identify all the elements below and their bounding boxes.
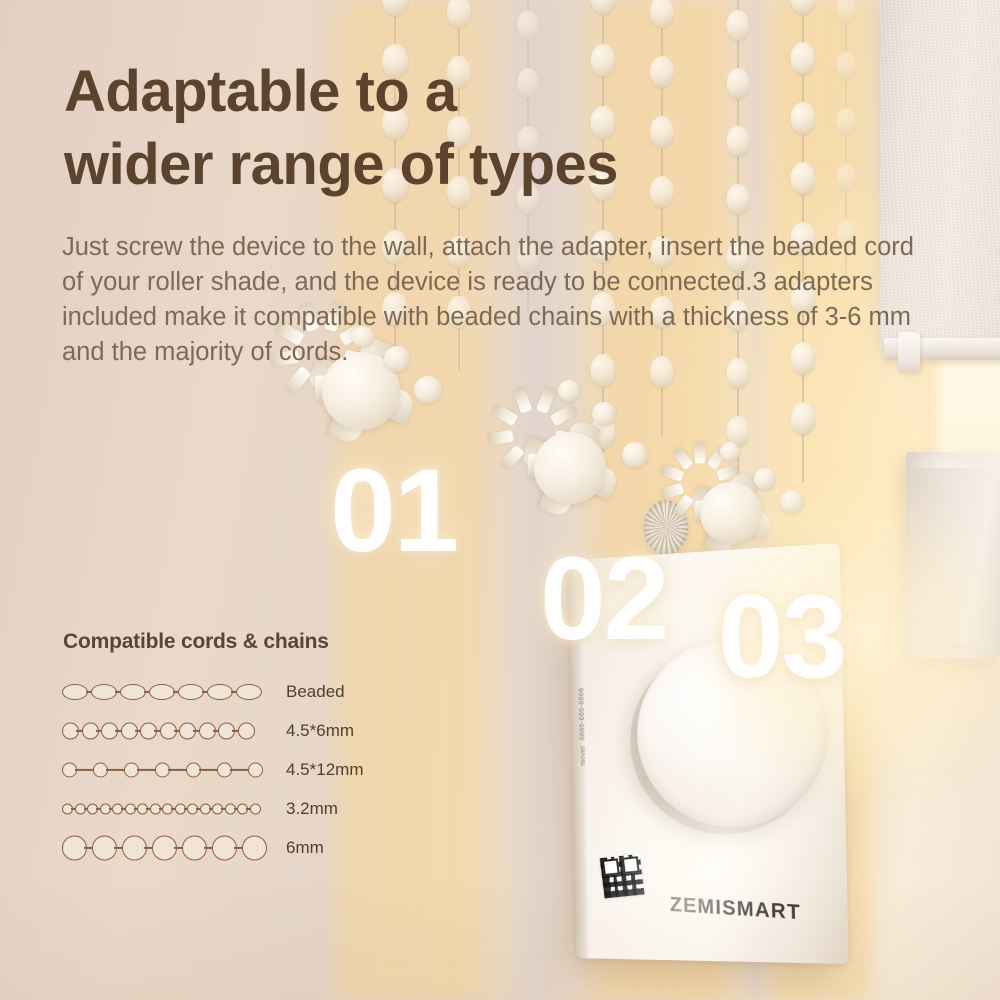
adapter-bead bbox=[720, 442, 740, 462]
qr-code-icon bbox=[600, 854, 645, 898]
chain-glyph-small-circles bbox=[62, 796, 274, 822]
compatibility-list: Beaded4.5*6mm4.5*12mm3.2mm6mm bbox=[62, 672, 402, 867]
step-number-02: 02 bbox=[540, 540, 667, 658]
chain-connector bbox=[137, 768, 157, 770]
chain-connector bbox=[106, 768, 126, 770]
headline-line-1: Adaptable to a bbox=[64, 55, 744, 128]
chain-link bbox=[236, 684, 262, 700]
chain-link bbox=[242, 835, 267, 860]
chain-glyph-touching-circles bbox=[62, 718, 274, 744]
chain-glyph-spaced-circles-long bbox=[62, 757, 274, 783]
headline: Adaptable to a wider range of types bbox=[64, 55, 744, 201]
chain-bead bbox=[382, 0, 408, 16]
compatibility-row: Beaded bbox=[62, 672, 402, 711]
chain-link bbox=[91, 684, 117, 700]
chain-glyph-oval-links bbox=[62, 679, 274, 705]
serial-code: 6666-666-6666 bbox=[578, 687, 586, 740]
adapter-sprocket-hub bbox=[534, 432, 606, 504]
serial-mark: mover bbox=[580, 745, 587, 766]
adapter-bead bbox=[592, 402, 616, 426]
compatibility-row: 6mm bbox=[62, 828, 402, 867]
chain-link bbox=[62, 684, 88, 700]
chain-bead bbox=[836, 164, 856, 191]
chain-link bbox=[149, 684, 175, 700]
chain-bead bbox=[836, 0, 856, 23]
chain-bead bbox=[650, 0, 674, 28]
compatibility-row: 3.2mm bbox=[62, 789, 402, 828]
chain-connector bbox=[199, 768, 219, 770]
chain-link bbox=[248, 762, 263, 777]
chain-connector bbox=[168, 768, 188, 770]
headline-line-2: wider range of types bbox=[64, 128, 744, 201]
compatibility-label: 4.5*12mm bbox=[286, 760, 363, 780]
chain-connector bbox=[230, 768, 250, 770]
chain-bead bbox=[447, 0, 471, 28]
chain-link bbox=[250, 803, 261, 814]
body-copy: Just screw the device to the wall, attac… bbox=[62, 230, 924, 370]
sprocket-tooth bbox=[695, 442, 706, 463]
chain-bead bbox=[836, 52, 856, 79]
product-banner: mover6666-666-6666 ZEMISMART 01 02 03 Ad… bbox=[0, 0, 1000, 1000]
chain-bead bbox=[726, 10, 749, 41]
chain-bead bbox=[836, 108, 856, 135]
chain-bead bbox=[590, 0, 615, 15]
compatibility-title: Compatible cords & chains bbox=[63, 630, 329, 654]
compatibility-row: 4.5*12mm bbox=[62, 750, 402, 789]
chain-bead bbox=[790, 102, 815, 135]
chain-link bbox=[207, 684, 233, 700]
chain-bead bbox=[790, 0, 815, 15]
compatibility-label: Beaded bbox=[286, 682, 345, 702]
adapter-bead bbox=[558, 380, 580, 402]
step-number-01: 01 bbox=[330, 452, 457, 570]
adapter-bead bbox=[622, 442, 648, 468]
compatibility-label: 6mm bbox=[286, 838, 324, 858]
compatibility-label: 4.5*6mm bbox=[286, 721, 354, 741]
chain-glyph-large-circles bbox=[62, 835, 274, 861]
chain-link bbox=[120, 684, 146, 700]
chain-link bbox=[178, 684, 204, 700]
chain-bead bbox=[790, 162, 815, 195]
chain-bead bbox=[790, 42, 815, 75]
chain-link bbox=[238, 722, 255, 739]
chain-bead bbox=[790, 402, 815, 435]
chain-connector bbox=[75, 768, 95, 770]
compatibility-row: 4.5*6mm bbox=[62, 711, 402, 750]
adapter-bead bbox=[414, 376, 442, 404]
compatibility-label: 3.2mm bbox=[286, 799, 338, 819]
chain-bead bbox=[517, 10, 539, 40]
brand-wordmark: ZEMISMART bbox=[670, 894, 802, 926]
step-number-03: 03 bbox=[718, 578, 845, 696]
